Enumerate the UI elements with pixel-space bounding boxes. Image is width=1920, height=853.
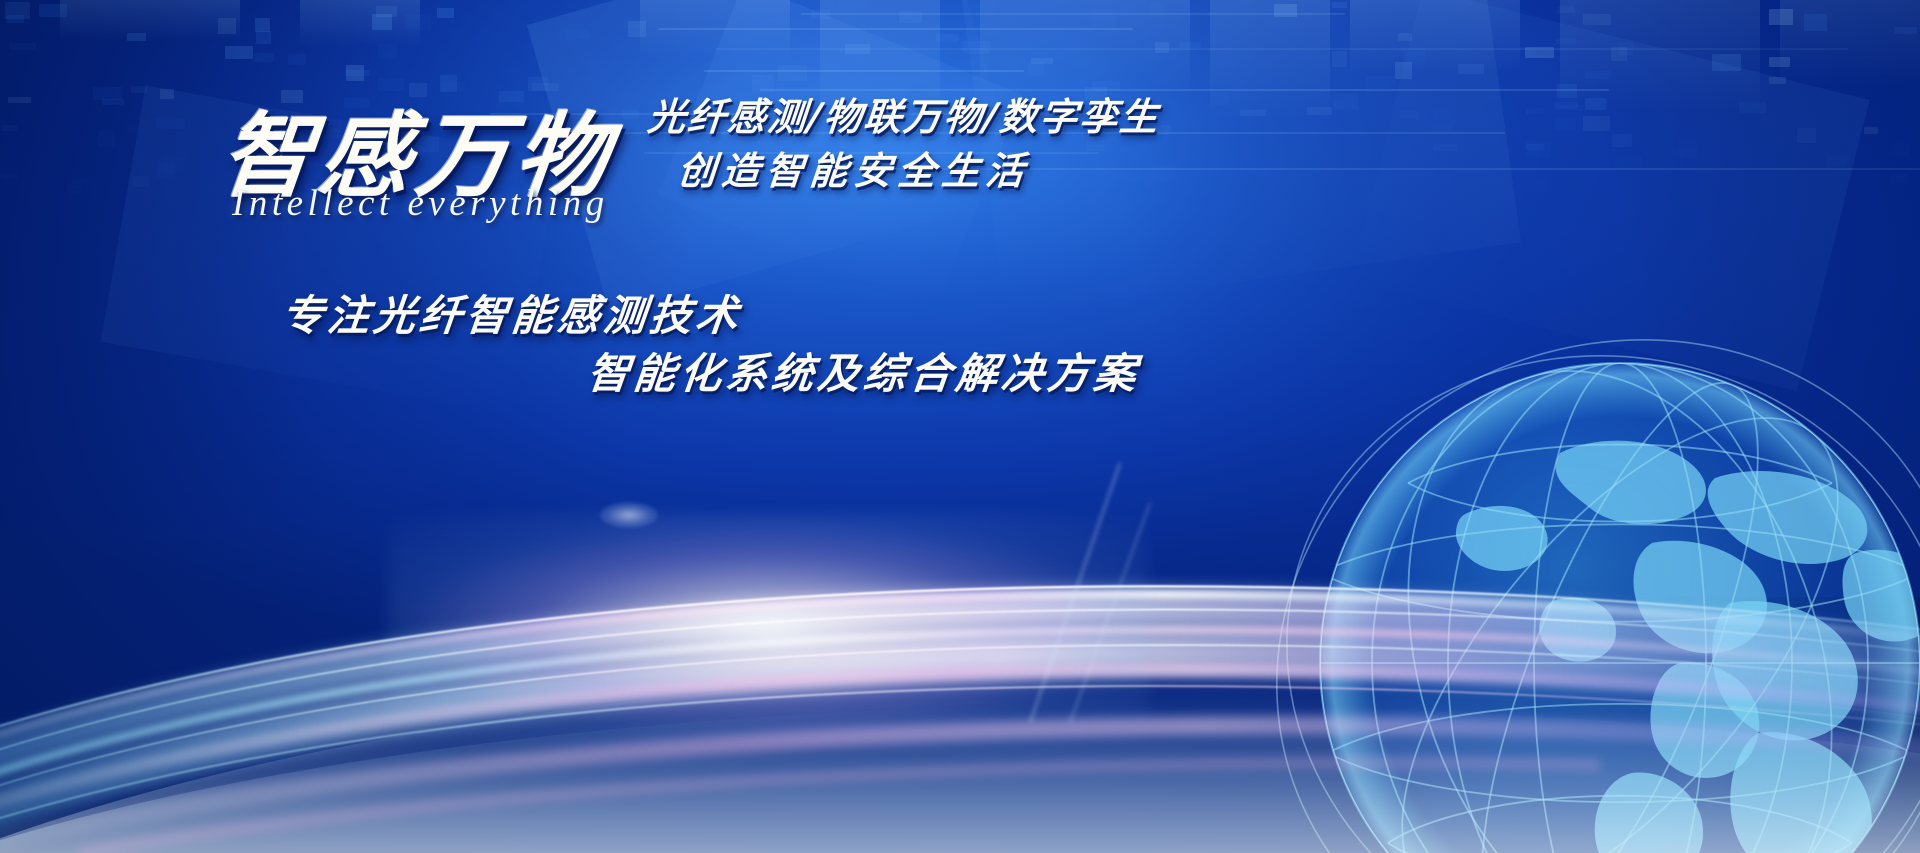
banner-stage: 智感万物 Intellect everything 光纤感测/物联万物/数字孪生…	[0, 0, 1920, 853]
lens-flare	[600, 502, 658, 528]
light-streak-arcs	[0, 423, 1920, 853]
tagline-line-2: 创造智能安全生活	[676, 140, 1033, 195]
statement-line-2: 智能化系统及综合解决方案	[585, 340, 1143, 401]
tagline-line-1: 光纤感测/物联万物/数字孪生	[646, 86, 1163, 141]
statement-line-1: 专注光纤智能感测技术	[279, 282, 745, 343]
headline-english: Intellect everything	[232, 182, 609, 225]
